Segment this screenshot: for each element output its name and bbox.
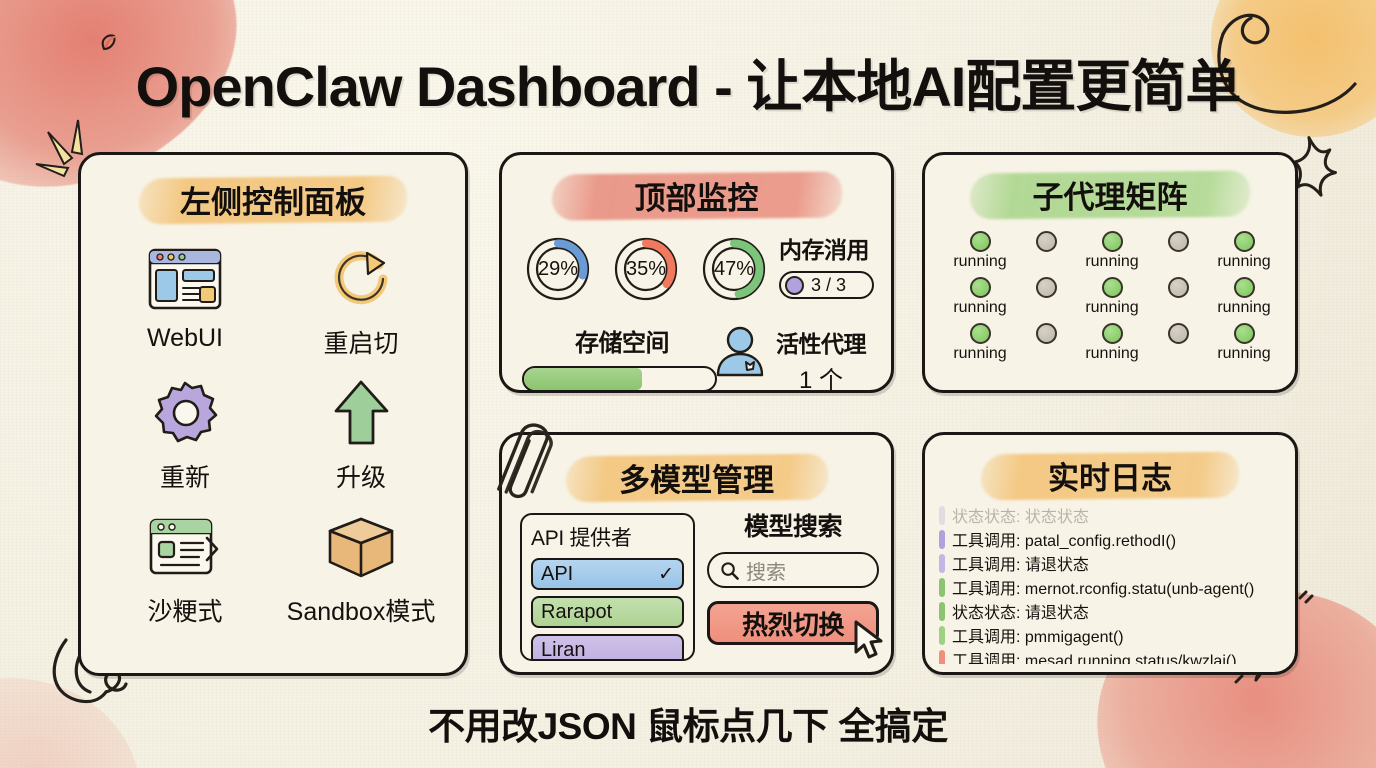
agent-status-dot-running [1234, 277, 1255, 298]
agent-status-dot-running [1102, 231, 1123, 252]
agent-cell[interactable] [1168, 231, 1189, 273]
agent-cell[interactable]: running [953, 277, 1006, 319]
realtime-log-panel-heading: 实时日志 [925, 453, 1295, 498]
agent-cell[interactable] [1168, 277, 1189, 319]
model-search-title: 模型搜索 [707, 507, 879, 543]
control-item-upgrade[interactable]: 升级 [277, 376, 445, 494]
agent-cell[interactable] [1036, 231, 1057, 273]
agent-cell[interactable]: running [953, 231, 1006, 273]
control-item-sandbox-mode[interactable]: Sandbox模式 [277, 510, 445, 628]
realtime-log-panel-card: 实时日志 状态状态: 状态状态工具调用: patal_config.rethod… [922, 432, 1298, 675]
model-search-input[interactable]: 搜索 [707, 552, 879, 588]
control-panel-heading: 左侧控制面板 [81, 177, 465, 222]
agent-cell[interactable]: running [1085, 277, 1138, 319]
control-item-sandbox-view[interactable]: 沙粳式 [101, 510, 269, 628]
agent-cell[interactable] [1168, 323, 1189, 365]
hotswap-button-label: 热烈切换 [742, 605, 844, 642]
log-row: 工具调用: mernot.rconfig.statu(unb-agent() [939, 575, 1285, 599]
active-agents-block: 活性代理 1 个 [712, 323, 866, 395]
model-search-placeholder: 搜索 [746, 556, 786, 585]
log-line-list[interactable]: 状态状态: 状态状态工具调用: patal_config.rethodI()工具… [939, 503, 1285, 664]
sandbox-window-icon [147, 510, 223, 584]
control-item-restart[interactable]: 重启切 [277, 242, 445, 360]
api-provider-name: Liran [541, 639, 585, 662]
api-provider-name: Rarapot [541, 601, 612, 624]
gauge-memory: 35% [610, 233, 682, 305]
model-search-block: 模型搜索 搜索 热烈切换 [707, 507, 879, 645]
storage-progress-bar [522, 366, 717, 392]
control-panel-card: 左侧控制面板 WebUI [78, 152, 468, 676]
log-severity-bar [939, 626, 945, 645]
agent-status-label: running [953, 253, 1006, 273]
control-item-label: 重新 [160, 458, 210, 494]
log-row: 状态状态: 状态状态 [939, 503, 1285, 527]
agent-status-label: running [1085, 345, 1138, 365]
log-text: 工具调用: mernot.rconfig.statu(unb-agent() [952, 575, 1254, 599]
agent-status-label: running [953, 345, 1006, 365]
control-icon-grid: WebUI 重启切 重新 [81, 242, 465, 628]
mouse-cursor-icon [850, 618, 890, 664]
agent-status-dot-running [1234, 323, 1255, 344]
control-item-label: 重启切 [323, 324, 398, 360]
agent-status-label: running [1085, 253, 1138, 273]
agent-status-dot-idle [1168, 231, 1189, 252]
control-item-label: WebUI [147, 324, 223, 353]
active-agents-text: 活性代理 1 个 [776, 323, 866, 395]
agent-status-label: running [1217, 253, 1270, 273]
api-provider-row[interactable]: Rarapot [531, 596, 684, 628]
agent-cell[interactable]: running [1085, 323, 1138, 365]
agent-status-dot-idle [1168, 323, 1189, 344]
log-row: 工具调用: 请退状态 [939, 551, 1285, 575]
log-row: 工具调用: mesad.running.status/kwzlai() [939, 647, 1285, 664]
control-item-label: Sandbox模式 [287, 592, 436, 628]
model-management-panel-card: 多模型管理 API 提供者 API✓RarapotLiran 模型搜索 搜索 热… [499, 432, 894, 675]
footer-tagline: 不用改JSON 鼠标点几下 全搞定 [0, 696, 1376, 750]
agent-status-dot-running [1102, 323, 1123, 344]
log-severity-bar [939, 650, 945, 665]
storage-progress-fill [524, 368, 642, 390]
log-text: 状态状态: 请退状态 [952, 599, 1089, 623]
gauge-value: 47% [698, 233, 770, 305]
page-title: OpenClaw Dashboard - 让本地AI配置更简单 [0, 42, 1376, 123]
memory-usage-block: 内存消用 3 / 3 [779, 231, 891, 299]
storage-block: 存储空间 [522, 323, 722, 392]
api-provider-row[interactable]: Liran [531, 634, 684, 661]
log-row: 工具调用: pmmigagent() [939, 623, 1285, 647]
control-item-label: 沙粳式 [147, 592, 222, 628]
agent-cell[interactable] [1036, 277, 1057, 319]
log-text: 工具调用: patal_config.rethodI() [952, 527, 1176, 551]
log-text: 工具调用: mesad.running.status/kwzlai() [952, 647, 1237, 664]
log-text: 工具调用: 请退状态 [952, 551, 1089, 575]
agent-status-dot-running [970, 277, 991, 298]
log-text: 工具调用: pmmigagent() [952, 623, 1124, 647]
cardboard-box-icon [324, 510, 398, 584]
log-severity-bar [939, 554, 945, 573]
log-severity-bar [939, 506, 945, 525]
restart-circular-arrow-icon [326, 242, 396, 316]
agent-status-label: running [1085, 299, 1138, 319]
check-icon: ✓ [658, 563, 674, 586]
api-provider-list-title: API 提供者 [531, 522, 684, 552]
log-severity-bar [939, 530, 945, 549]
agent-status-label: running [953, 299, 1006, 319]
agent-cell[interactable] [1036, 323, 1057, 365]
memory-usage-pill: 3 / 3 [779, 271, 874, 299]
agent-status-grid: runningrunningrunningrunningrunningrunni… [947, 231, 1277, 365]
agent-status-dot-running [970, 323, 991, 344]
agent-status-label: running [1217, 345, 1270, 365]
gauge-disk: 47% [698, 233, 770, 305]
agent-status-dot-idle [1168, 277, 1189, 298]
gauge-value: 29% [522, 233, 594, 305]
control-item-webui[interactable]: WebUI [101, 242, 269, 360]
monitor-panel-card: 顶部监控 29% 35% 47% [499, 152, 894, 393]
gauge-value: 35% [610, 233, 682, 305]
control-item-reset[interactable]: 重新 [101, 376, 269, 494]
active-agents-count: 1 个 [776, 360, 866, 395]
control-item-label: 升级 [336, 458, 386, 494]
log-row: 状态状态: 请退状态 [939, 599, 1285, 623]
log-severity-bar [939, 578, 945, 597]
up-arrow-icon [330, 376, 392, 450]
agent-status-dot-idle [1036, 277, 1057, 298]
active-agents-label: 活性代理 [776, 325, 866, 359]
memory-count-text: 3 / 3 [811, 275, 846, 296]
user-avatar-icon [712, 323, 768, 379]
model-management-panel-heading: 多模型管理 [502, 455, 891, 500]
search-icon [720, 561, 739, 580]
api-provider-rows: API✓RarapotLiran [531, 558, 684, 661]
agent-status-dot-idle [1036, 231, 1057, 252]
browser-window-icon [147, 242, 223, 316]
agent-status-dot-idle [1036, 323, 1057, 344]
hotswap-button[interactable]: 热烈切换 [707, 601, 879, 645]
agent-cell[interactable]: running [953, 323, 1006, 365]
gear-icon [150, 376, 220, 450]
log-severity-bar [939, 602, 945, 621]
api-provider-row[interactable]: API✓ [531, 558, 684, 590]
memory-status-dot [785, 276, 804, 295]
api-provider-list-card: API 提供者 API✓RarapotLiran [520, 513, 695, 661]
storage-label: 存储空间 [522, 323, 722, 358]
api-provider-name: API [541, 563, 573, 586]
memory-usage-label: 内存消用 [779, 231, 891, 265]
agent-status-label: running [1217, 299, 1270, 319]
agent-cell[interactable]: running [1217, 231, 1270, 273]
agent-cell[interactable]: running [1217, 277, 1270, 319]
agent-matrix-panel-card: 子代理矩阵 runningrunningrunningrunningrunnin… [922, 152, 1298, 393]
agent-status-dot-running [970, 231, 991, 252]
agent-status-dot-running [1234, 231, 1255, 252]
log-row: 工具调用: patal_config.rethodI() [939, 527, 1285, 551]
agent-status-dot-running [1102, 277, 1123, 298]
log-text: 状态状态: 状态状态 [952, 503, 1089, 527]
agent-matrix-panel-heading: 子代理矩阵 [925, 172, 1295, 217]
monitor-panel-heading: 顶部监控 [502, 173, 891, 218]
agent-cell[interactable]: running [1085, 231, 1138, 273]
gauge-cpu: 29% [522, 233, 594, 305]
agent-cell[interactable]: running [1217, 323, 1270, 365]
